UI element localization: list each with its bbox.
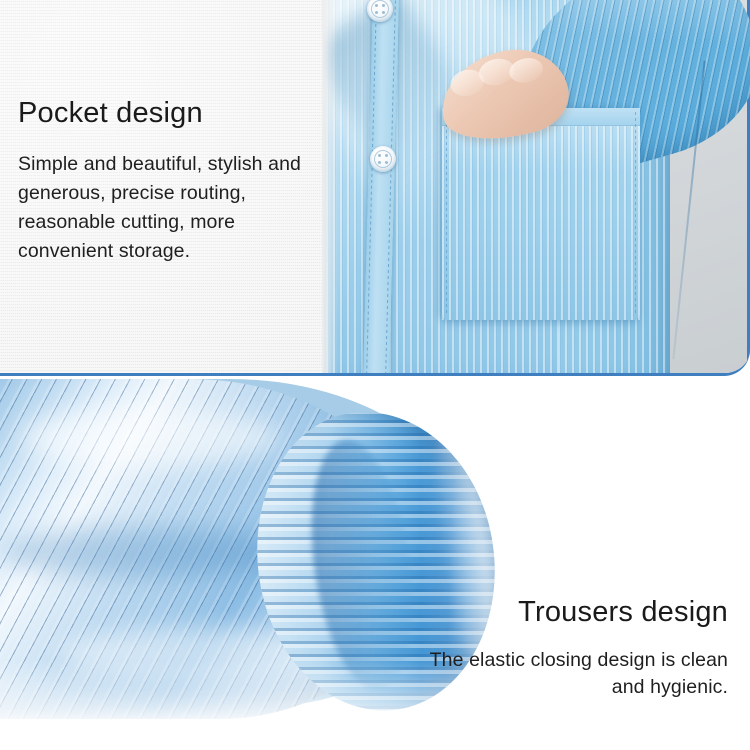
fabric-fold-shadow	[0, 527, 300, 577]
button-hole	[378, 161, 381, 164]
button-hole	[385, 154, 388, 157]
button-hole	[382, 11, 385, 14]
button-hole	[375, 4, 378, 7]
stitch-line	[635, 112, 636, 316]
fabric-stripes-vertical	[442, 108, 640, 320]
text-block-trousers-design: Trousers design The elastic closing desi…	[398, 595, 728, 701]
patch-pocket	[442, 108, 640, 320]
knuckle	[507, 55, 546, 86]
photo-left-feather	[322, 0, 338, 373]
button-hole	[378, 154, 381, 157]
page-title-trousers-design: Trousers design	[398, 595, 728, 629]
text-block-pocket-design: Pocket design Simple and beautiful, styl…	[18, 96, 318, 266]
product-feature-image: Pocket design Simple and beautiful, styl…	[0, 0, 750, 750]
panel-trousers-design: Trousers design The elastic closing desi…	[0, 377, 750, 750]
photo-pocket-design	[322, 0, 750, 373]
button-hole	[385, 161, 388, 164]
page-title-pocket-design: Pocket design	[18, 96, 318, 130]
body-text-trousers-design: The elastic closing design is clean and …	[398, 647, 728, 701]
fabric-highlight	[20, 407, 280, 467]
stitch-line	[446, 112, 447, 316]
button-hole	[375, 11, 378, 14]
panel-pocket-design: Pocket design Simple and beautiful, styl…	[0, 0, 750, 376]
button-hole	[382, 4, 385, 7]
shirt-button-lower	[370, 146, 396, 172]
body-text-pocket-design: Simple and beautiful, stylish and genero…	[18, 150, 318, 266]
